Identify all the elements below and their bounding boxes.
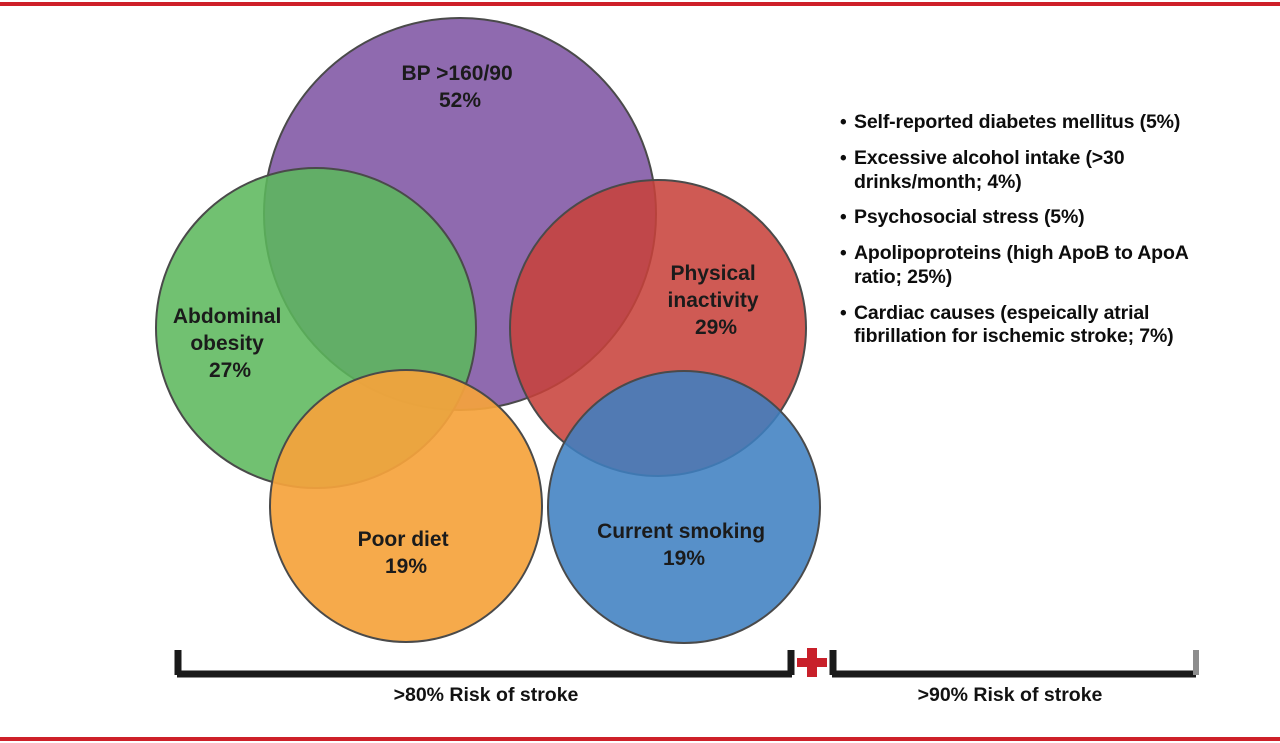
additional-risk-factors-list: • Self-reported diabetes mellitus (5%) •… (840, 111, 1220, 361)
venn-circle-poor-diet (270, 370, 542, 642)
top-red-rule (0, 2, 1280, 6)
bullet-icon: • (840, 147, 854, 170)
list-item-label: Excessive alcohol intake (>30 drinks/mon… (854, 147, 1220, 195)
list-item-label: Apolipoproteins (high ApoB to ApoA ratio… (854, 242, 1220, 290)
bullet-icon: • (840, 302, 854, 325)
figure-root: BP >160/90 52% Physical inactivity 29% A… (0, 0, 1280, 743)
plus-icon (797, 648, 827, 677)
list-item: • Cardiac causes (espeically atrial fibr… (840, 302, 1220, 350)
bracket-graphics (0, 645, 1280, 685)
risk-bracket-group: >80% Risk of stroke >90% Risk of stroke (0, 645, 1280, 737)
bottom-red-rule (0, 737, 1280, 741)
list-item: • Excessive alcohol intake (>30 drinks/m… (840, 147, 1220, 195)
list-item: • Self-reported diabetes mellitus (5%) (840, 111, 1220, 135)
bullet-icon: • (840, 242, 854, 265)
list-item-label: Cardiac causes (espeically atrial fibril… (854, 302, 1220, 350)
bullet-icon: • (840, 111, 854, 134)
list-item-label: Psychosocial stress (5%) (854, 206, 1220, 230)
venn-circle-current-smoking (548, 371, 820, 643)
list-item-label: Self-reported diabetes mellitus (5%) (854, 111, 1220, 135)
list-item: • Apolipoproteins (high ApoB to ApoA rat… (840, 242, 1220, 290)
bracket-left (177, 650, 792, 675)
bracket-right (832, 650, 1196, 675)
bullet-icon: • (840, 206, 854, 229)
right-risk-caption: >90% Risk of stroke (822, 684, 1198, 707)
list-item: • Psychosocial stress (5%) (840, 206, 1220, 230)
venn-diagram: BP >160/90 52% Physical inactivity 29% A… (0, 8, 840, 648)
left-risk-caption: >80% Risk of stroke (176, 684, 796, 707)
